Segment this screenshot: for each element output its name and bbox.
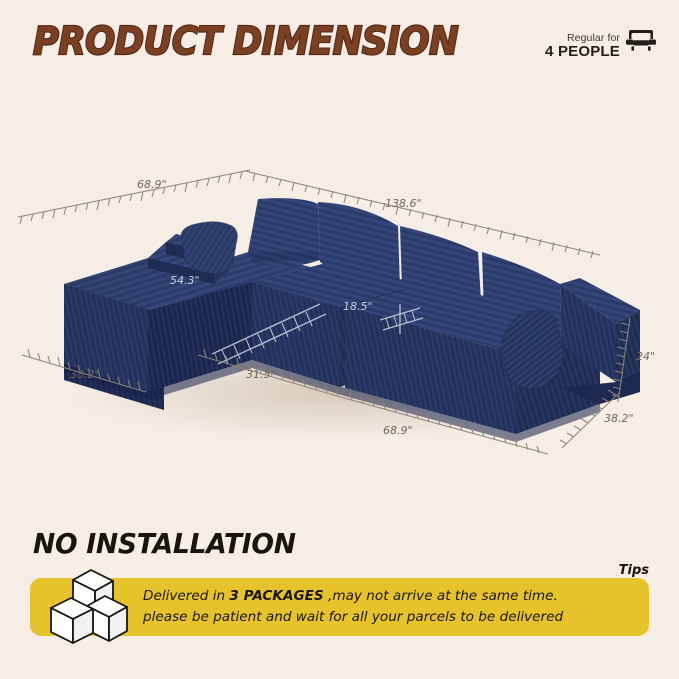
armchair-icon <box>626 27 656 59</box>
tips-banner-text: Delivered in 3 PACKAGES ,may not arrive … <box>143 586 577 627</box>
ruler-depth-top-left <box>18 170 250 224</box>
stacked-boxes-icon <box>43 564 129 648</box>
tips-banner: Delivered in 3 PACKAGES ,may not arrive … <box>30 578 649 636</box>
header: PRODUCT DIMENSION Regular for 4 PEOPLE <box>0 0 679 92</box>
label-arm-height: 24" <box>636 350 655 363</box>
tips-banner-line-2: please be patient and wait for all your … <box>143 607 563 628</box>
label-chaise-width: 38.2" <box>70 368 100 381</box>
label-depth-bottom-right: 38.2" <box>604 412 634 425</box>
capacity-badge-labels: Regular for 4 PEOPLE <box>545 33 620 60</box>
capacity-badge: Regular for 4 PEOPLE <box>545 27 656 60</box>
tips-line1-strong: 3 PACKAGES <box>229 588 323 604</box>
label-depth-top-left: 68.9" <box>137 178 167 191</box>
label-module-width: 31.5" <box>246 368 276 381</box>
no-installation-title: NO INSTALLATION <box>33 530 296 558</box>
capacity-badge-big-label: 4 PEOPLE <box>545 44 620 60</box>
tips-banner-line-1: Delivered in 3 PACKAGES ,may not arrive … <box>143 586 563 607</box>
label-sofa-length-bottom: 68.9" <box>383 424 413 437</box>
sofa-dimension-illustration: 68.9" 138.6" 54.3" 18.5" 38.2" 31.5" 68.… <box>0 92 679 492</box>
tips-line1-suffix: ,may not arrive at the same time. <box>324 588 558 604</box>
label-width-top: 138.6" <box>385 197 422 210</box>
tips-line1-prefix: Delivered in <box>143 588 229 604</box>
sofa-svg: 68.9" 138.6" 54.3" 18.5" 38.2" 31.5" 68.… <box>0 92 679 492</box>
tips-label: Tips <box>619 563 649 578</box>
back-cushion-1 <box>248 198 320 266</box>
page-title: PRODUCT DIMENSION <box>33 22 458 60</box>
label-chaise-length: 54.3" <box>170 274 200 287</box>
product-dimension-infographic: PRODUCT DIMENSION Regular for 4 PEOPLE <box>0 0 679 679</box>
label-seat-height: 18.5" <box>343 300 373 313</box>
